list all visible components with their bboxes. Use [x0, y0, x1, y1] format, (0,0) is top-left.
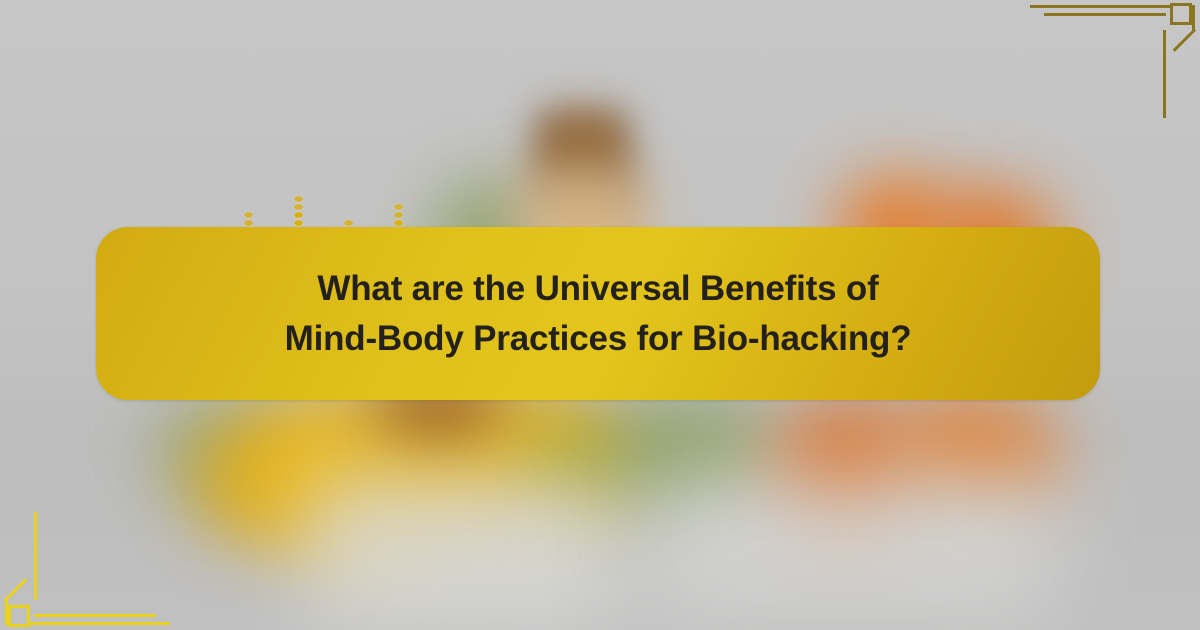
question-banner: What are the Universal Benefits of Mind-… [96, 227, 1100, 400]
page-title: What are the Universal Benefits of Mind-… [245, 264, 952, 363]
page-title-line-1: What are the Universal Benefits of [285, 264, 912, 314]
table-highlight-blur [640, 470, 1060, 620]
vase-blur [300, 470, 620, 630]
page-title-line-2: Mind-Body Practices for Bio-hacking? [285, 314, 912, 364]
